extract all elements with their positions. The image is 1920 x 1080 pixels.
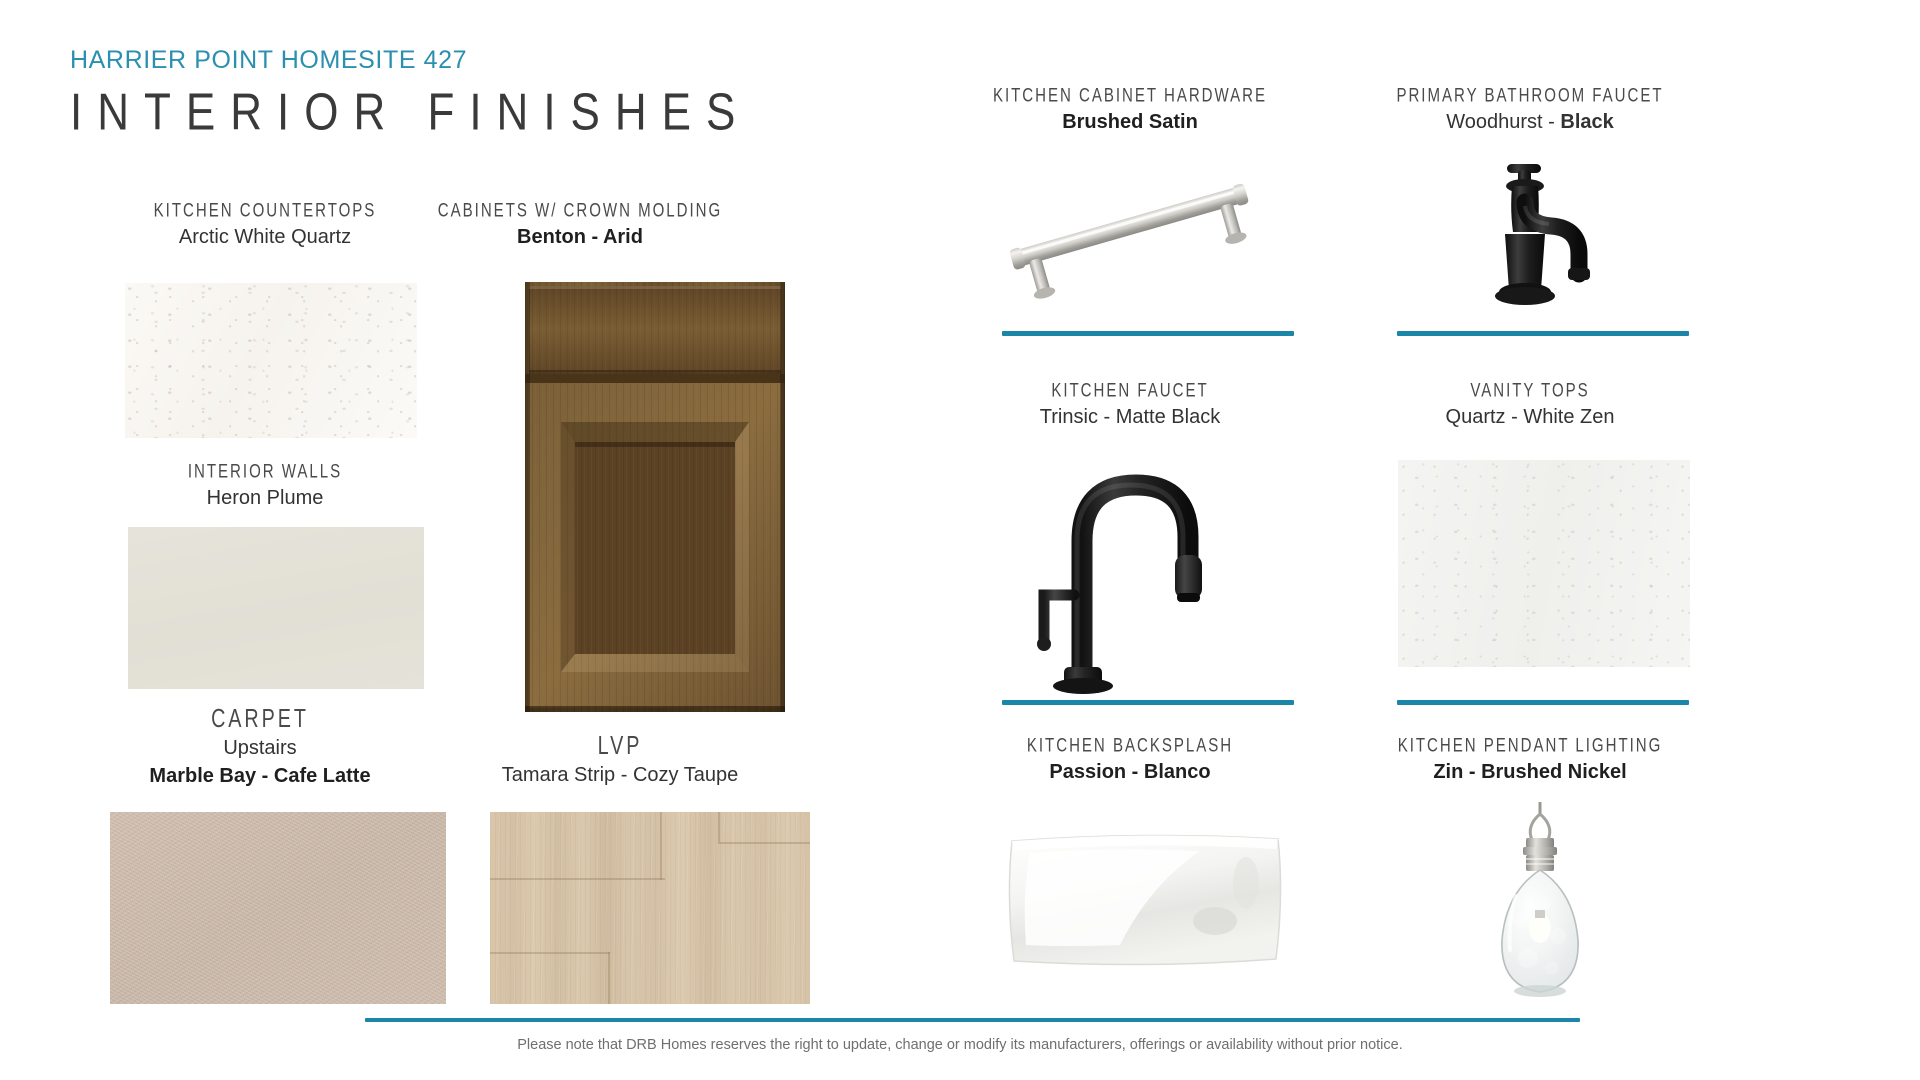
cabinet-pull-bar-image: [990, 140, 1270, 320]
kitchen-countertops-block: KITCHEN COUNTERTOPS Arctic White Quartz: [120, 200, 410, 249]
kitchen-pendant-lighting-value: Zin - Brushed Nickel: [1360, 761, 1700, 784]
bathroom-faucet-image: [1455, 150, 1625, 325]
cabinets-value: Benton - Arid: [380, 226, 780, 249]
kitchen-faucet-image: [1030, 445, 1260, 695]
heron-plume-paint-swatch: [128, 527, 424, 689]
page-header: HARRIER POINT HOMESITE 427 INTERIOR FINI…: [70, 46, 750, 131]
vanity-tops-value: Quartz - White Zen: [1360, 406, 1700, 429]
kitchen-pendant-lighting-label: KITCHEN PENDANT LIGHTING: [1384, 734, 1676, 758]
divider-rule: [1002, 331, 1294, 336]
kitchen-pendant-lighting-block: KITCHEN PENDANT LIGHTING Zin - Brushed N…: [1360, 735, 1700, 784]
lvp-value: Tamara Strip - Cozy Taupe: [440, 764, 800, 787]
arctic-white-quartz-swatch: [125, 283, 417, 438]
vanity-tops-label: VANITY TOPS: [1384, 379, 1676, 403]
kitchen-faucet-label: KITCHEN FAUCET: [984, 379, 1276, 403]
primary-bathroom-faucet-label: PRIMARY BATHROOM FAUCET: [1384, 84, 1676, 108]
carpet-value-location: Upstairs: [110, 737, 410, 760]
divider-rule: [1002, 700, 1294, 705]
kitchen-countertops-label: KITCHEN COUNTERTOPS: [140, 199, 389, 223]
vanity-tops-block: VANITY TOPS Quartz - White Zen: [1360, 380, 1700, 429]
divider-rule: [1397, 700, 1689, 705]
carpet-value-name: Marble Bay - Cafe Latte: [110, 765, 410, 788]
faucet-value-prefix: Woodhurst -: [1446, 111, 1560, 133]
vanity-quartz-swatch: [1398, 460, 1690, 667]
interior-walls-label: INTERIOR WALLS: [140, 460, 389, 484]
primary-bathroom-faucet-value: Woodhurst - Black: [1360, 111, 1700, 134]
carpet-block: CARPET Upstairs Marble Bay - Cafe Latte: [110, 705, 410, 788]
kitchen-backsplash-label: KITCHEN BACKSPLASH: [984, 734, 1276, 758]
carpet-swatch: [110, 812, 446, 1004]
pendant-light-image: [1440, 800, 1640, 1015]
interior-walls-block: INTERIOR WALLS Heron Plume: [120, 461, 410, 510]
lvp-label: LVP: [465, 730, 775, 760]
kitchen-faucet-block: KITCHEN FAUCET Trinsic - Matte Black: [960, 380, 1300, 429]
lvp-plank-image: [490, 812, 810, 1004]
kitchen-cabinet-hardware-block: KITCHEN CABINET HARDWARE Brushed Satin: [960, 85, 1300, 134]
cabinet-door-image: [525, 282, 785, 712]
kitchen-countertops-value: Arctic White Quartz: [120, 226, 410, 249]
kitchen-backsplash-value: Passion - Blanco: [960, 761, 1300, 784]
kitchen-cabinet-hardware-value: Brushed Satin: [960, 111, 1300, 134]
kitchen-backsplash-block: KITCHEN BACKSPLASH Passion - Blanco: [960, 735, 1300, 784]
interior-finishes-sheet: HARRIER POINT HOMESITE 427 INTERIOR FINI…: [0, 0, 1920, 1080]
page-title: INTERIOR FINISHES: [70, 87, 750, 139]
faucet-value-finish: Black: [1560, 111, 1613, 133]
interior-walls-value: Heron Plume: [120, 487, 410, 510]
kitchen-cabinet-hardware-label: KITCHEN CABINET HARDWARE: [984, 84, 1276, 108]
divider-rule: [1397, 331, 1689, 336]
cabinets-block: CABINETS W/ CROWN MOLDING Benton - Arid: [380, 200, 780, 249]
carpet-label: CARPET: [131, 703, 389, 733]
homesite-subtitle: HARRIER POINT HOMESITE 427: [70, 46, 750, 75]
lvp-block: LVP Tamara Strip - Cozy Taupe: [440, 732, 800, 787]
footer-divider-rule: [365, 1018, 1580, 1022]
primary-bathroom-faucet-block: PRIMARY BATHROOM FAUCET Woodhurst - Blac…: [1360, 85, 1700, 134]
footer-disclaimer: Please note that DRB Homes reserves the …: [0, 1037, 1920, 1053]
backsplash-tile-image: [1000, 825, 1290, 975]
kitchen-faucet-value: Trinsic - Matte Black: [960, 406, 1300, 429]
cabinets-label: CABINETS W/ CROWN MOLDING: [408, 199, 752, 223]
